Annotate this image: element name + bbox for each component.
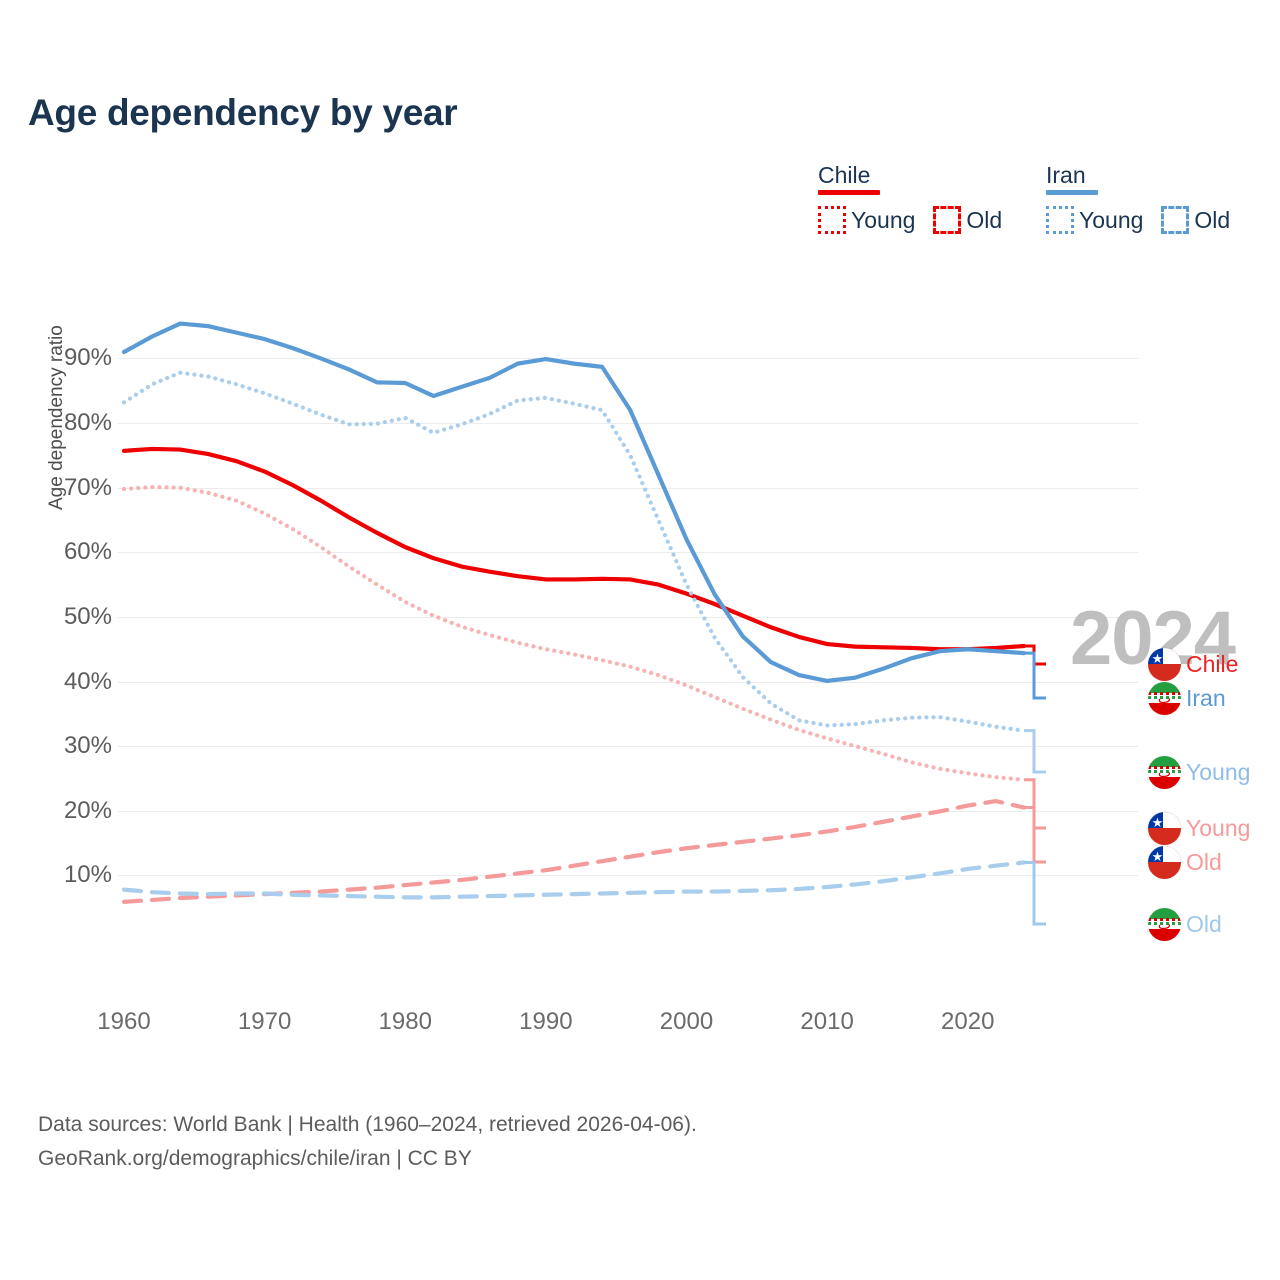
iran-flag-icon: ب <box>1148 756 1181 789</box>
legend-color-bar <box>1046 190 1098 195</box>
line-chile-young <box>124 487 1024 780</box>
legend-item-old[interactable]: Old <box>1161 206 1230 234</box>
x-tick-label: 2020 <box>941 1008 994 1036</box>
end-label[interactable]: ★Young <box>1148 811 1250 845</box>
end-label-text: Iran <box>1186 685 1226 712</box>
end-label[interactable]: بOld <box>1148 907 1222 941</box>
y-tick-label: 70% <box>64 474 112 502</box>
line-iran-total <box>124 324 1024 681</box>
legend-country-name: Chile <box>818 162 880 188</box>
line-chile-total <box>124 449 1024 649</box>
chart-page: Age dependency by year ChileYoungOldIran… <box>0 0 1280 1280</box>
x-tick-label: 2000 <box>660 1008 713 1036</box>
end-label-connector <box>1024 653 1046 698</box>
line-iran-young <box>124 373 1024 731</box>
chile-flag-icon: ★ <box>1148 846 1181 879</box>
end-label-text: Old <box>1186 849 1222 876</box>
y-tick-label: 50% <box>64 603 112 631</box>
end-label[interactable]: بYoung <box>1148 755 1250 789</box>
y-tick-label: 60% <box>64 538 112 566</box>
page-title: Age dependency by year <box>28 92 457 134</box>
legend-series-row: YoungOld <box>818 206 1020 234</box>
y-tick-label: 90% <box>64 344 112 372</box>
x-tick-label: 2010 <box>800 1008 853 1036</box>
legend-color-bar <box>818 190 880 195</box>
end-label[interactable]: ★Chile <box>1148 647 1238 681</box>
legend-item-label: Old <box>966 207 1002 234</box>
y-tick-label: 10% <box>64 861 112 889</box>
y-tick-label: 30% <box>64 732 112 760</box>
y-tick-label: 40% <box>64 668 112 696</box>
end-label-text: Old <box>1186 911 1222 938</box>
legend-item-young[interactable]: Young <box>818 206 915 234</box>
legend-swatch-dashed-icon <box>933 206 961 234</box>
y-axis-label: Age dependency ratio <box>46 325 68 510</box>
x-tick-label: 1990 <box>519 1008 572 1036</box>
chile-flag-icon: ★ <box>1148 648 1181 681</box>
legend-item-old[interactable]: Old <box>933 206 1002 234</box>
y-tick-label: 80% <box>64 409 112 437</box>
legend-item-label: Old <box>1194 207 1230 234</box>
end-label-text: Young <box>1186 815 1250 842</box>
footer-sources: Data sources: World Bank | Health (1960–… <box>38 1108 697 1142</box>
legend-group-chile: ChileYoungOld <box>818 162 880 195</box>
iran-flag-icon: ب <box>1148 682 1181 715</box>
end-label[interactable]: ★Old <box>1148 845 1222 879</box>
legend-swatch-dotted-icon <box>818 206 846 234</box>
legend-group-iran: IranYoungOld <box>1046 162 1098 195</box>
x-tick-label: 1980 <box>379 1008 432 1036</box>
legend-swatch-dotted-icon <box>1046 206 1074 234</box>
line-chile-old <box>124 801 1024 902</box>
chile-flag-icon: ★ <box>1148 812 1181 845</box>
y-tick-label: 20% <box>64 797 112 825</box>
series-lines <box>118 300 1138 1000</box>
legend-series-row: YoungOld <box>1046 206 1248 234</box>
legend-swatch-dashed-icon <box>1161 206 1189 234</box>
legend-item-label: Young <box>1079 207 1143 234</box>
legend-item-young[interactable]: Young <box>1046 206 1143 234</box>
end-label-connector <box>1024 808 1046 862</box>
end-label-connector <box>1024 731 1046 772</box>
iran-flag-icon: ب <box>1148 908 1181 941</box>
end-label-text: Young <box>1186 759 1250 786</box>
x-tick-label: 1970 <box>238 1008 291 1036</box>
footer: Data sources: World Bank | Health (1960–… <box>38 1108 697 1176</box>
legend: ChileYoungOldIranYoungOld <box>818 162 1268 242</box>
end-label-connector <box>1024 862 1046 924</box>
plot-area: 10%20%30%40%50%60%70%80%90% 196019701980… <box>118 300 1138 1000</box>
legend-country-name: Iran <box>1046 162 1098 188</box>
footer-attribution: GeoRank.org/demographics/chile/iran | CC… <box>38 1142 697 1176</box>
x-tick-label: 1960 <box>97 1008 150 1036</box>
end-label[interactable]: بIran <box>1148 681 1226 715</box>
end-label-text: Chile <box>1186 651 1238 678</box>
legend-item-label: Young <box>851 207 915 234</box>
